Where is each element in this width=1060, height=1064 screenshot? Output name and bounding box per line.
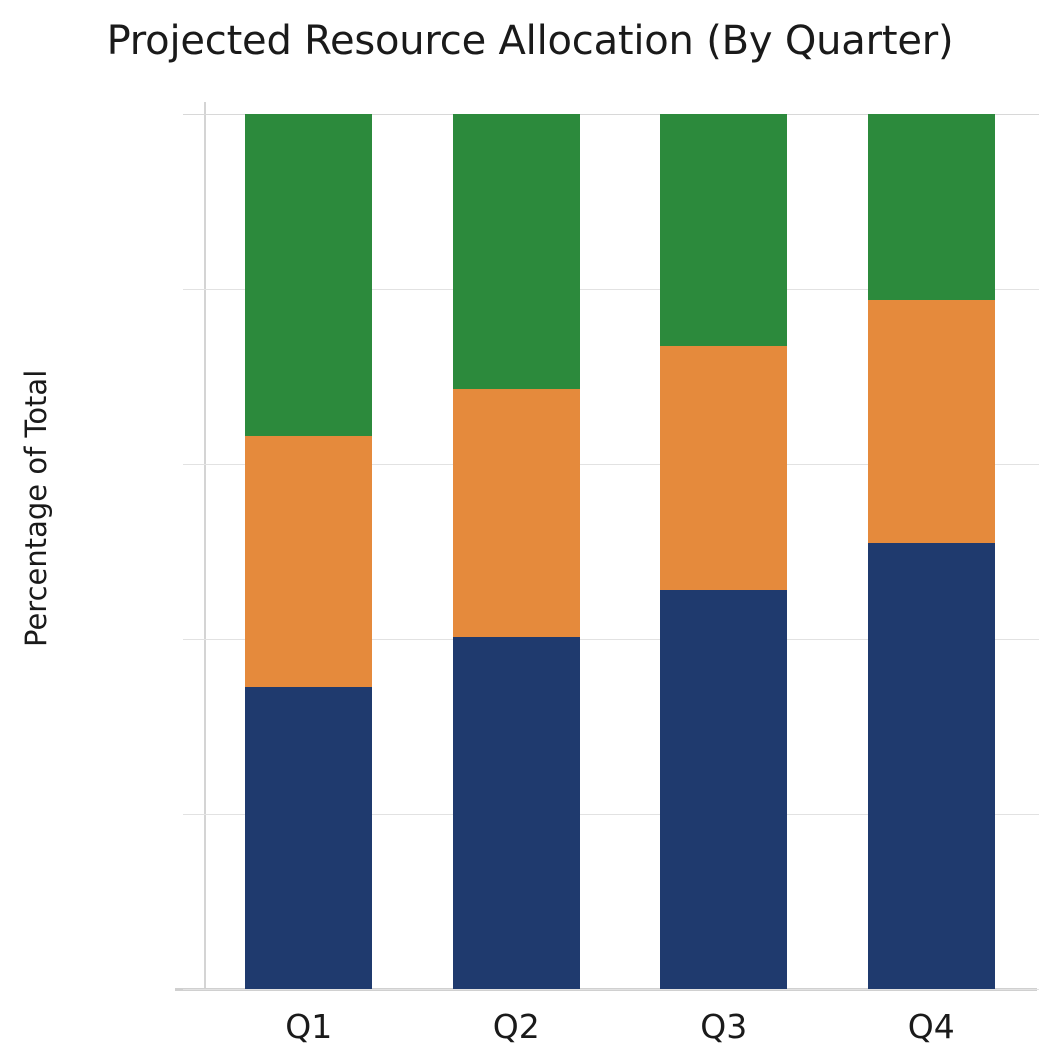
y-axis-label: Percentage of Total (19, 387, 53, 647)
gridline (183, 989, 1039, 990)
bar-segment-series-3[interactable] (868, 114, 995, 300)
bar-segment-series-2[interactable] (660, 346, 787, 590)
bar-segment-series-3[interactable] (453, 114, 580, 389)
x-axis-tick-label-q2: Q2 (413, 1007, 621, 1046)
chart-figure: Projected Resource Allocation (By Quarte… (0, 0, 1060, 1064)
bar-segment-series-2[interactable] (245, 436, 372, 687)
bar-segment-series-2[interactable] (453, 389, 580, 638)
page-title: Projected Resource Allocation (By Quarte… (0, 18, 1060, 64)
y-axis-spine (204, 102, 206, 991)
x-axis-tick-label-q3: Q3 (620, 1007, 828, 1046)
bar-group-q4[interactable] (868, 114, 995, 989)
bar-group-q3[interactable] (660, 114, 787, 989)
bar-segment-series-1[interactable] (660, 590, 787, 989)
bar-segment-series-1[interactable] (868, 543, 995, 989)
x-axis-tick-label-q4: Q4 (828, 1007, 1036, 1046)
bar-segment-series-1[interactable] (453, 637, 580, 989)
bar-segment-series-1[interactable] (245, 687, 372, 989)
bar-group-q2[interactable] (453, 114, 580, 989)
bar-segment-series-3[interactable] (245, 114, 372, 436)
bar-segment-series-3[interactable] (660, 114, 787, 346)
x-axis-tick-label-q1: Q1 (205, 1007, 413, 1046)
plot-area: 0%20%40%60%80%100% Q1Q2Q3Q4 (205, 114, 1035, 989)
bar-group-q1[interactable] (245, 114, 372, 989)
bar-segment-series-2[interactable] (868, 300, 995, 542)
